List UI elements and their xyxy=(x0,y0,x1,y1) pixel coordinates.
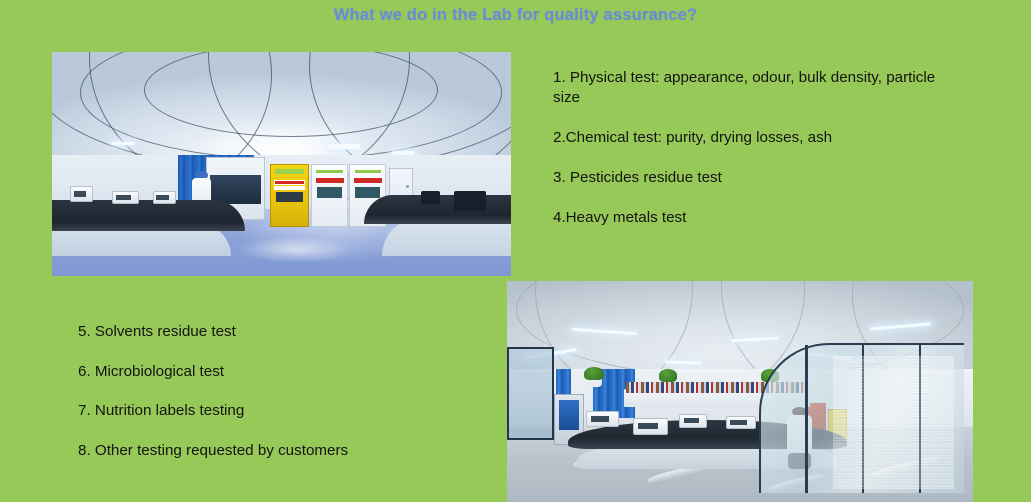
glass-mullion xyxy=(805,345,807,493)
list-item: 8. Other testing requested by customers xyxy=(78,441,498,461)
instrument-screen xyxy=(74,191,87,197)
cabinet-green-label xyxy=(316,170,342,174)
door-knob-icon xyxy=(406,185,409,188)
potted-plant xyxy=(659,369,677,381)
bench-instrument xyxy=(726,416,756,429)
computer-monitor xyxy=(454,191,486,211)
instrument-screen xyxy=(638,423,658,429)
slide-canvas: What we do in the Lab for quality assura… xyxy=(0,0,1031,502)
instrument-screen xyxy=(591,416,609,422)
bench-instrument xyxy=(153,191,176,204)
instrument-room-scene xyxy=(507,281,973,502)
ceiling-light xyxy=(112,142,135,146)
yellow-safety-cabinet xyxy=(270,164,309,227)
test-list-right: 1. Physical test: appearance, odour, bul… xyxy=(553,68,953,248)
floor-reflection xyxy=(236,236,355,263)
cabinet-warning-label xyxy=(354,178,382,183)
computer-monitor xyxy=(421,191,440,204)
cleanroom-scene xyxy=(52,52,511,276)
lab-cleanroom-panorama-top xyxy=(52,52,511,276)
cabinet-warning-label xyxy=(316,178,344,183)
list-item: 1. Physical test: appearance, odour, bul… xyxy=(553,68,953,108)
lab-instrument-room-panorama-bottom xyxy=(507,281,973,502)
cabinet-green-label xyxy=(275,169,305,173)
white-instrument-cabinet xyxy=(311,164,348,227)
list-item: 5. Solvents residue test xyxy=(78,322,498,342)
instrument-screen xyxy=(156,195,169,200)
ceiling-light xyxy=(392,151,415,155)
list-item: 3. Pesticides residue test xyxy=(553,168,953,188)
list-item: 2.Chemical test: purity, drying losses, … xyxy=(553,128,953,148)
bench-instrument xyxy=(586,411,619,426)
bench-instrument xyxy=(633,418,668,435)
instrument-screen xyxy=(116,195,131,200)
page-title: What we do in the Lab for quality assura… xyxy=(0,6,1031,25)
ceiling-light xyxy=(327,144,359,149)
cabinet-window xyxy=(355,187,380,198)
cabinet-warning-label xyxy=(274,180,305,185)
left-workbench xyxy=(52,200,245,231)
fluorescent-tube xyxy=(665,360,702,364)
bench-instrument xyxy=(70,186,93,202)
cabinet-window xyxy=(317,187,342,198)
test-list-left: 5. Solvents residue test 6. Microbiologi… xyxy=(78,322,498,480)
list-item: 4.Heavy metals test xyxy=(553,208,953,228)
cabinet-green-label xyxy=(355,170,381,174)
bench-instrument xyxy=(679,414,707,428)
instrument-screen xyxy=(684,418,700,423)
refrigerator-glass-door xyxy=(559,400,579,430)
list-item: 6. Microbiological test xyxy=(78,362,498,382)
list-item: 7. Nutrition labels testing xyxy=(78,401,498,421)
cabinet-white-label xyxy=(274,186,305,190)
bench-instrument xyxy=(112,191,140,204)
frosted-glass-panel xyxy=(833,356,954,489)
instrument-screen xyxy=(730,420,747,425)
cabinet-window xyxy=(276,192,303,202)
glass-wall-left xyxy=(507,347,554,440)
potted-plant xyxy=(584,367,604,380)
